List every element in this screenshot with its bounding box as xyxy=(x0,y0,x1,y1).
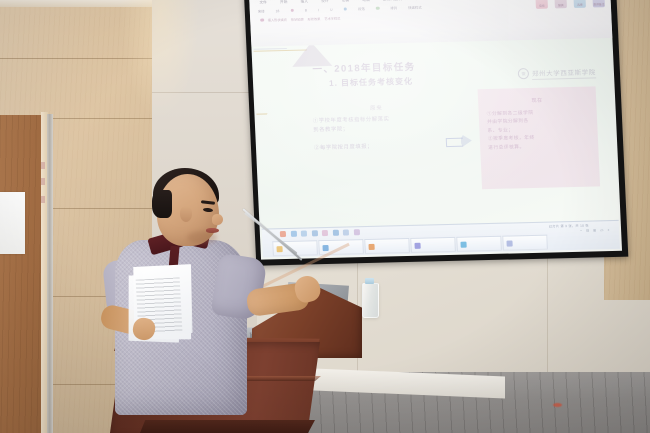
ribbon-tab[interactable]: 插入 xyxy=(301,0,309,5)
door-vision-panel xyxy=(0,192,25,254)
seal-icon: 徽 xyxy=(518,68,529,79)
zoom-controls[interactable]: − ⊟ ⊞ ▭ + xyxy=(580,228,611,233)
presenter xyxy=(95,168,310,398)
chin-shadow xyxy=(187,231,217,244)
taskbar-app-row[interactable] xyxy=(272,235,548,257)
ribbon-tab[interactable]: 章节 xyxy=(456,0,464,1)
left-block-line: ②每学院按月度填报； xyxy=(314,141,442,153)
slide-right-block: 现在 ①分解到各二级学院 并由学院分解到各 系、专业； ②按季度考核，年终 进行… xyxy=(478,86,601,189)
ribbon-tab[interactable]: 幻灯片放映 xyxy=(383,0,402,3)
ribbon-right-buttons[interactable]: 查找 替换 选择 演讲备注 xyxy=(535,0,605,8)
quick-styles-label[interactable]: 快速样式 xyxy=(408,5,422,10)
taskbar-app-mail[interactable] xyxy=(502,235,548,251)
door-hinge xyxy=(41,162,45,169)
right-block-heading: 现在 xyxy=(478,95,596,105)
arrange-label[interactable]: 排列 xyxy=(390,5,397,10)
slide-left-block: 原来 ①学校年度考核指标分解落实 到各教学院； ②每学院按月度填报； xyxy=(312,102,442,153)
door-hinge xyxy=(41,178,45,185)
ribbon-tab[interactable]: 视图 xyxy=(435,0,443,1)
find-button[interactable]: 查找 xyxy=(535,0,548,8)
text-color-icon[interactable] xyxy=(343,7,347,11)
shape-icon[interactable] xyxy=(376,6,380,10)
paragraph-group-label[interactable]: 段落 xyxy=(358,6,365,11)
ribbon-shape-row[interactable]: 插入形状填充 形状轮廓 形状效果 艺术字样式 xyxy=(260,16,340,23)
printed-papers[interactable] xyxy=(121,260,207,350)
podium-base xyxy=(140,420,315,433)
shape-effect-label[interactable]: 形状效果 xyxy=(307,16,320,21)
left-block-heading: 原来 xyxy=(312,102,440,113)
ribbon-tab[interactable]: 动画 xyxy=(362,0,370,3)
floor-mark xyxy=(553,403,562,407)
wordart-label[interactable]: 艺术字样式 xyxy=(324,16,340,21)
font-name-field[interactable]: 宋体 xyxy=(258,9,265,14)
shape-fill-label[interactable]: 插入形状填充 xyxy=(268,17,287,22)
bold-icon[interactable] xyxy=(290,9,294,13)
right-arrow-icon xyxy=(446,133,473,149)
nose xyxy=(212,214,223,225)
presentation-room-photo: 文件 开始 插入 设计 切换 动画 幻灯片放映 审阅 视图 章节 会员专享 宋体… xyxy=(0,0,650,433)
ceiling-trim xyxy=(0,0,152,7)
slide-status-text: 幻灯片 第 3 张，共 18 张 xyxy=(549,223,589,229)
bottle-cap[interactable] xyxy=(365,278,374,284)
door-grain-texture xyxy=(0,115,44,433)
shape-outline-label[interactable]: 形状轮廓 xyxy=(291,17,304,22)
left-block-line: 到各教学院； xyxy=(313,123,441,135)
door-hinge xyxy=(41,196,45,203)
ribbon-format-row[interactable]: 宋体 18 B I U 段落 排列 快速样式 xyxy=(258,5,422,14)
ribbon-tab[interactable]: 文件 xyxy=(259,0,267,5)
bold-button[interactable]: B xyxy=(305,8,307,12)
grid-icon[interactable] xyxy=(332,230,338,236)
presenter-notes-button[interactable]: 演讲备注 xyxy=(592,0,605,7)
university-logo: 徽 郑州大学西亚斯学院 xyxy=(518,66,596,79)
replace-button[interactable]: 替换 xyxy=(554,0,567,8)
slide-subtitle: 1. 目标任务考核变化 xyxy=(329,76,413,89)
shape-fill-icon[interactable] xyxy=(260,18,264,22)
logo-text: 郑州大学西亚斯学院 xyxy=(532,66,596,79)
ribbon-tab[interactable]: 切换 xyxy=(342,0,350,4)
ribbon-tab[interactable]: 设计 xyxy=(321,0,329,4)
water-bottle[interactable] xyxy=(362,283,379,318)
taskbar-app-player[interactable] xyxy=(410,237,456,253)
clock-icon[interactable] xyxy=(311,230,317,236)
ribbon-tab[interactable]: 开始 xyxy=(280,0,288,5)
underline-button[interactable]: U xyxy=(330,7,333,11)
arrow-head xyxy=(461,133,473,147)
arrow-icon[interactable] xyxy=(343,229,349,235)
select-button[interactable]: 选择 xyxy=(573,0,586,7)
taskbar-app-wps[interactable] xyxy=(364,238,410,254)
room-door[interactable] xyxy=(0,115,44,433)
ear xyxy=(180,206,192,222)
pointer-highlight xyxy=(245,212,298,254)
wall-seam xyxy=(152,92,257,93)
note-icon[interactable] xyxy=(322,230,328,236)
ribbon-tab[interactable]: 审阅 xyxy=(415,0,423,2)
wall-seam xyxy=(0,58,152,59)
font-size-field[interactable]: 18 xyxy=(275,9,279,13)
italic-button[interactable]: I xyxy=(318,8,319,12)
taskbar-app-chat[interactable] xyxy=(456,236,502,252)
door-metal-jamb xyxy=(47,114,53,433)
slide-title: 一、2018年目标任务 xyxy=(312,59,416,76)
flag-icon[interactable] xyxy=(353,229,359,235)
hair-sideburn xyxy=(152,190,172,218)
